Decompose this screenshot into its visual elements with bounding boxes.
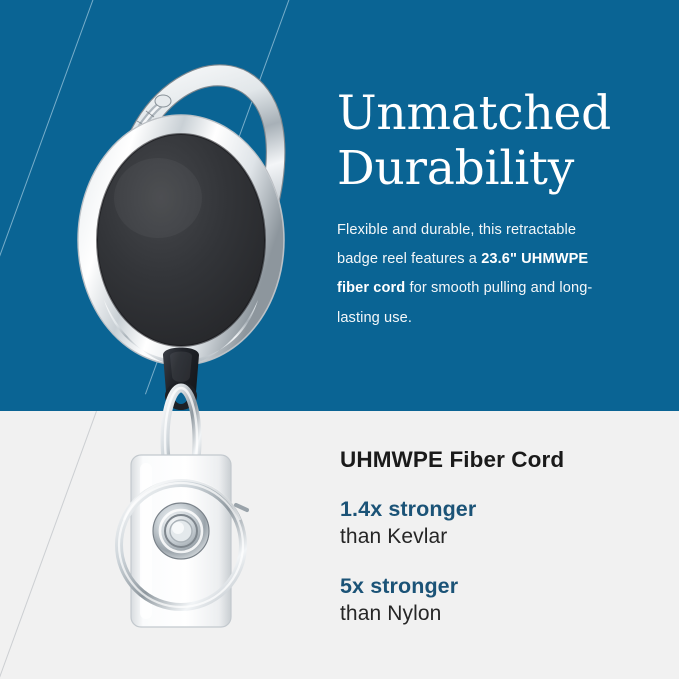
claim-comparison: than Kevlar: [340, 523, 650, 550]
claim-item: 1.4x stronger than Kevlar: [340, 473, 650, 550]
bottom-text-block: UHMWPE Fiber Cord 1.4x stronger than Kev…: [340, 447, 650, 627]
headline: Unmatched Durability: [337, 86, 657, 196]
claim-comparison: than Nylon: [340, 600, 650, 627]
section-title: UHMWPE Fiber Cord: [340, 447, 650, 473]
product-feature-graphic: Unmatched Durability Flexible and durabl…: [0, 0, 679, 679]
top-text-block: Unmatched Durability Flexible and durabl…: [337, 86, 657, 333]
body-paragraph: Flexible and durable, this retractable b…: [337, 196, 602, 333]
claim-item: 5x stronger than Nylon: [340, 550, 650, 627]
claim-lead: 5x stronger: [340, 573, 650, 600]
claim-lead: 1.4x stronger: [340, 496, 650, 523]
